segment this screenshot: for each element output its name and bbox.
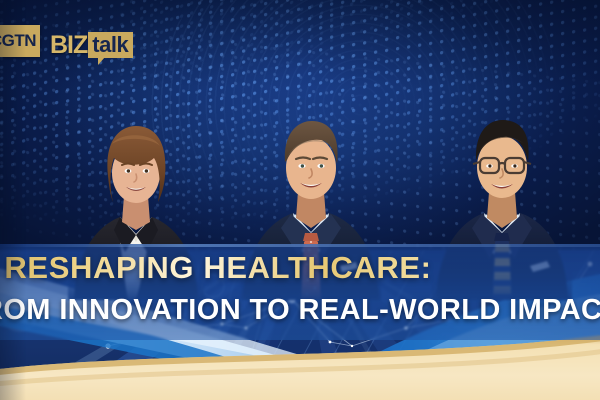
cgtn-logo: CGTN <box>0 25 40 57</box>
broadcast-title-card: I RESHAPING HEALTHCARE: ROM INNOVATION T… <box>0 0 600 400</box>
biztalk-logo-talk: talk <box>88 32 133 58</box>
subheadline-text: ROM INNOVATION TO REAL-WORLD IMPACT <box>0 296 600 325</box>
biztalk-logo: BIZ talk <box>50 24 133 58</box>
panelist-group <box>0 0 600 400</box>
speech-bubble-tail-icon <box>98 57 105 65</box>
logo-row: CGTN BIZ talk <box>0 24 133 58</box>
headline-text: I RESHAPING HEALTHCARE: <box>0 252 600 283</box>
biztalk-logo-bubble: talk <box>88 32 133 58</box>
biztalk-logo-biz: BIZ <box>50 33 87 58</box>
